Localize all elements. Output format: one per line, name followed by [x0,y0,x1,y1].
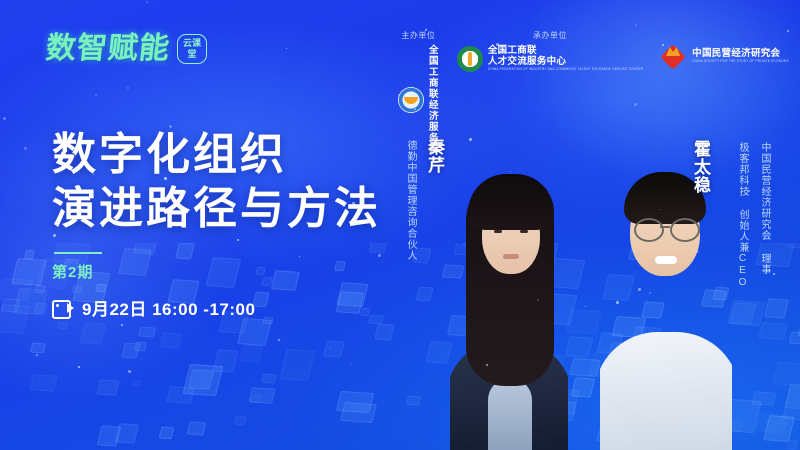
chip-tile [121,342,140,358]
chip-tile [279,349,315,381]
chip-tile [375,323,396,340]
video-camera-icon [52,300,74,315]
sparkle-dot [24,147,27,150]
sparkle-dot [286,48,287,49]
sponsor-name-line1: 全国工商联 [488,45,643,56]
chip-tile [782,386,800,422]
sparkle-dot [330,347,331,348]
chip-tile [565,309,601,334]
chip-tile [415,287,433,302]
sparkle-dot [696,250,699,253]
chip-tile [571,377,596,397]
chip-tile [29,374,58,392]
sparkle-dot [352,202,355,205]
schedule-text: 9月22日 16:00 -17:00 [82,295,255,320]
speaker-1-role: 德勤中国管理咨询合伙人 [404,140,417,261]
sparkle-dot [351,364,352,365]
sponsor-co-organizer: 承办单位 全国工商联 人才交流服务中心 CHINA FEDERATION OF … [457,30,643,72]
chip-tile [0,304,30,334]
chip-tile [80,322,107,345]
chip-tile [764,298,789,318]
speaker-1-name: 秦芹 [424,138,444,174]
sparkle-dot [146,1,148,3]
sponsor-caption: 承办单位 [533,30,567,41]
chip-tile [789,332,800,345]
speaker-2-role-line2: 极客邦科技 创始人兼CEO [736,142,749,289]
chip-tile [57,322,68,330]
chip-tile [166,386,194,404]
chip-tile [115,423,139,443]
sparkle-dot [78,366,80,368]
sparkle-dot [237,239,239,241]
chip-tile [324,341,346,358]
sponsor-name-line1: 中国民营经济研究会 [692,48,789,59]
sponsor-research-society: 中国民营经济研究会 CHINA SOCIETY FOR THE STUDY OF… [661,43,789,69]
chip-tile [751,391,776,406]
webinar-poster: 数智赋能 云课堂 主办单位 全国工商联 经济服务部 承办单位 全国工商联 人才交… [0,0,800,450]
national-federation-emblem-icon [398,87,424,113]
page-title-line1: 数字化组织 [52,128,381,182]
chip-tile [24,250,35,259]
talent-exchange-emblem-icon [457,46,483,72]
chip-tile [786,440,797,450]
speaker-photo-huotaiwen [600,132,732,450]
sparkle-dot [635,24,637,26]
chip-tile [755,413,787,433]
chip-tile [237,318,272,346]
chip-tile [406,396,421,406]
chip-tile [261,373,277,383]
chip-tile [29,343,45,354]
chip-tile [772,362,800,387]
speaker-2-role-line1: 中国民营经济研究会 理事 [758,142,771,275]
chip-tile [788,243,800,248]
chip-tile [249,394,262,402]
sparkle-dot [128,370,131,373]
sparkle-dot [585,306,586,307]
sparkle-dot [169,125,172,128]
chip-tile [96,379,119,396]
chip-tile [213,349,239,373]
sponsor-organizer: 主办单位 全国工商联 经济服务部 [398,30,439,155]
speaker-2-name: 霍太稳 [690,140,710,194]
sponsor-subtitle: CHINA FEDERATION OF INDUSTRY AND COMMERC… [488,67,643,72]
speaker-1: 秦芹 德勤中国管理咨询合伙人 [440,130,570,450]
chip-tile [159,332,183,349]
sparkle-dot [299,256,300,257]
sparkle-dot [773,273,775,275]
sparkle-dot [30,378,31,379]
chip-tile [249,387,276,403]
sparkle-dot [121,324,123,326]
sparkle-dot [378,254,381,257]
speaker-2: 霍太稳 中国民营经济研究会 理事 极客邦科技 创始人兼CEO [600,130,740,450]
sparkle-dot [278,339,280,341]
sponsor-subtitle: CHINA SOCIETY FOR THE STUDY OF PRIVATE E… [692,59,789,64]
schedule-row: 9月22日 16:00 -17:00 [52,295,381,320]
sparkle-dot [127,87,129,89]
brand-logo: 数智赋能 云课堂 [46,34,207,64]
chip-tile [188,369,214,389]
sparkle-dot [95,94,97,96]
chip-tile [11,258,47,286]
sparkle-dot [414,108,416,110]
chip-tile [187,421,207,435]
sponsor-caption: 主办单位 [401,30,435,41]
chip-tile [335,391,373,414]
chip-tile [158,427,174,440]
sparkle-dot [36,354,38,356]
sparkle-dot [537,299,539,301]
private-economy-research-emblem-icon [661,43,687,69]
chip-tile [138,327,156,338]
chip-tile [763,416,795,443]
episode-label: 第2期 [52,261,381,282]
brand-badge: 云课堂 [177,34,207,64]
sparkle-dot [285,340,286,341]
sparkle-dot [510,171,511,172]
chip-tile [97,425,122,446]
chip-tile [758,322,787,340]
chip-tile [183,364,224,396]
sponsor-name-line2: 人才交流服务中心 [488,56,643,67]
chip-tile [0,298,20,312]
chip-tile [134,342,147,352]
chip-tile [13,288,48,315]
title-block: 数字化组织 演进路径与方法 第2期 9月22日 16:00 -17:00 [52,128,381,320]
title-divider [54,252,102,254]
chip-tile [239,344,263,363]
chip-tile [0,278,34,302]
chip-tile [34,285,46,294]
speaker-photo-qinqin [450,138,568,450]
brand-name: 数智赋能 [44,34,171,64]
sparkle-dot [3,117,6,120]
chip-tile [784,384,800,410]
sparkle-dot [469,138,472,141]
chip-tile [569,358,601,377]
chip-tile [234,416,247,425]
page-title-line2: 演进路径与方法 [52,182,381,236]
chip-tile [340,402,377,423]
chip-tile [34,303,48,315]
chip-tile [131,380,141,387]
